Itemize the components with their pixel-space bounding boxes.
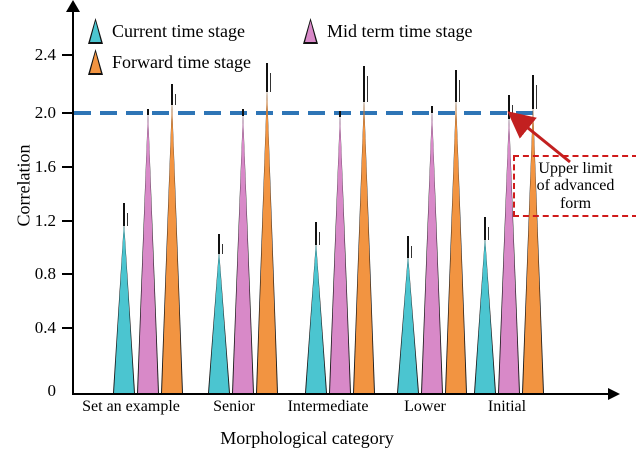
y-tick-0.4	[62, 327, 73, 329]
triangle-icon	[88, 49, 103, 75]
spike-whisker-0-2	[315, 222, 317, 246]
spike-2-3	[445, 98, 467, 393]
y-tick-1.2	[62, 220, 73, 222]
x-axis-arrow-icon	[608, 388, 620, 400]
spike-0-2	[305, 241, 327, 393]
spike-fill	[138, 113, 158, 393]
legend-item-mid-term-time-stage[interactable]: Mid term time stage	[303, 18, 472, 44]
spike-whisker-2-3	[455, 70, 457, 102]
spike-whisker-0-0	[123, 203, 125, 225]
annotation-line-3: form	[519, 195, 632, 212]
spike-fill	[114, 224, 134, 393]
annotation-line-2: of advanced	[519, 177, 632, 194]
spike-whisker-0-3	[407, 236, 409, 258]
spike-fill	[306, 243, 326, 393]
spike-0-1	[208, 250, 230, 393]
correlation-chart: 2.4 2.0 1.6 1.2 0.8 0.4 0 Correlation Mo…	[0, 0, 636, 457]
spike-whisker-2-4	[532, 75, 534, 109]
spike-fill	[233, 114, 253, 393]
spike-2-0	[161, 101, 183, 393]
x-category-label-0: Set an example	[64, 398, 198, 416]
spike-fill	[475, 238, 495, 393]
x-category-label-3: Lower	[380, 398, 470, 416]
spike-whisker-0-1	[218, 234, 220, 253]
spike-0-4	[474, 236, 496, 393]
y-tick-2.4	[62, 54, 73, 56]
triangle-icon	[88, 18, 103, 44]
legend-label-2: Forward time stage	[112, 52, 251, 73]
legend-item-current-time-stage[interactable]: Current time stage	[88, 18, 245, 44]
spike-1-2	[329, 113, 351, 393]
legend-label-1: Mid term time stage	[327, 21, 472, 42]
spike-whisker-edge-2-3	[459, 80, 460, 102]
spike-1-1	[232, 112, 254, 393]
spike-fill	[162, 103, 182, 393]
spike-1-3	[421, 109, 443, 393]
spike-whisker-2-2	[363, 66, 365, 102]
spike-whisker-edge-0-0	[127, 213, 128, 225]
triangle-icon	[303, 18, 318, 44]
x-category-label-2: Intermediate	[266, 398, 390, 416]
spike-whisker-0-4	[484, 217, 486, 239]
y-tick-1.6	[62, 166, 73, 168]
spike-whisker-edge-0-1	[222, 244, 223, 253]
spike-whisker-edge-2-1	[270, 73, 271, 92]
spike-whisker-edge-0-3	[411, 246, 412, 258]
y-axis-arrow-icon	[66, 0, 80, 12]
y-tick-label-0: 0	[0, 382, 56, 399]
spike-0-0	[113, 222, 135, 393]
spike-whisker-1-2	[339, 111, 341, 118]
spike-whisker-edge-0-4	[488, 227, 489, 239]
y-tick-2.0	[62, 112, 73, 114]
spike-fill	[446, 100, 466, 393]
y-tick-label-0.8: 0.8	[0, 265, 56, 282]
x-category-label-4: Initial	[462, 398, 552, 416]
spike-fill	[257, 90, 277, 393]
spike-whisker-1-0	[147, 109, 149, 114]
spike-fill	[330, 115, 350, 393]
spike-whisker-2-1	[266, 63, 268, 92]
legend-label-0: Current time stage	[112, 21, 245, 42]
spike-fill	[422, 111, 442, 393]
y-tick-label-0.4: 0.4	[0, 319, 56, 336]
spike-fill	[398, 256, 418, 393]
x-axis-line	[72, 393, 612, 395]
y-tick-0.8	[62, 273, 73, 275]
spike-1-0	[137, 111, 159, 393]
spike-fill	[209, 252, 229, 393]
spike-whisker-1-1	[242, 109, 244, 116]
spike-whisker-edge-0-2	[319, 232, 320, 246]
spike-2-1	[256, 88, 278, 393]
spike-0-3	[397, 254, 419, 393]
annotation-line-1: Upper limit	[519, 160, 632, 177]
y-tick-label-2.4: 2.4	[0, 46, 56, 63]
y-axis-line	[72, 8, 74, 395]
spike-whisker-1-3	[431, 106, 433, 113]
y-axis-title: Correlation	[14, 116, 35, 256]
spike-whisker-edge-2-2	[367, 76, 368, 102]
spike-whisker-2-0	[171, 84, 173, 105]
spike-whisker-edge-2-0	[175, 94, 176, 105]
spike-2-2	[353, 98, 375, 393]
legend-item-forward-time-stage[interactable]: Forward time stage	[88, 49, 251, 75]
annotation-upper-limit: Upper limit of advanced form	[513, 155, 636, 217]
spike-fill	[354, 100, 374, 393]
x-axis-title: Morphological category	[72, 428, 542, 449]
